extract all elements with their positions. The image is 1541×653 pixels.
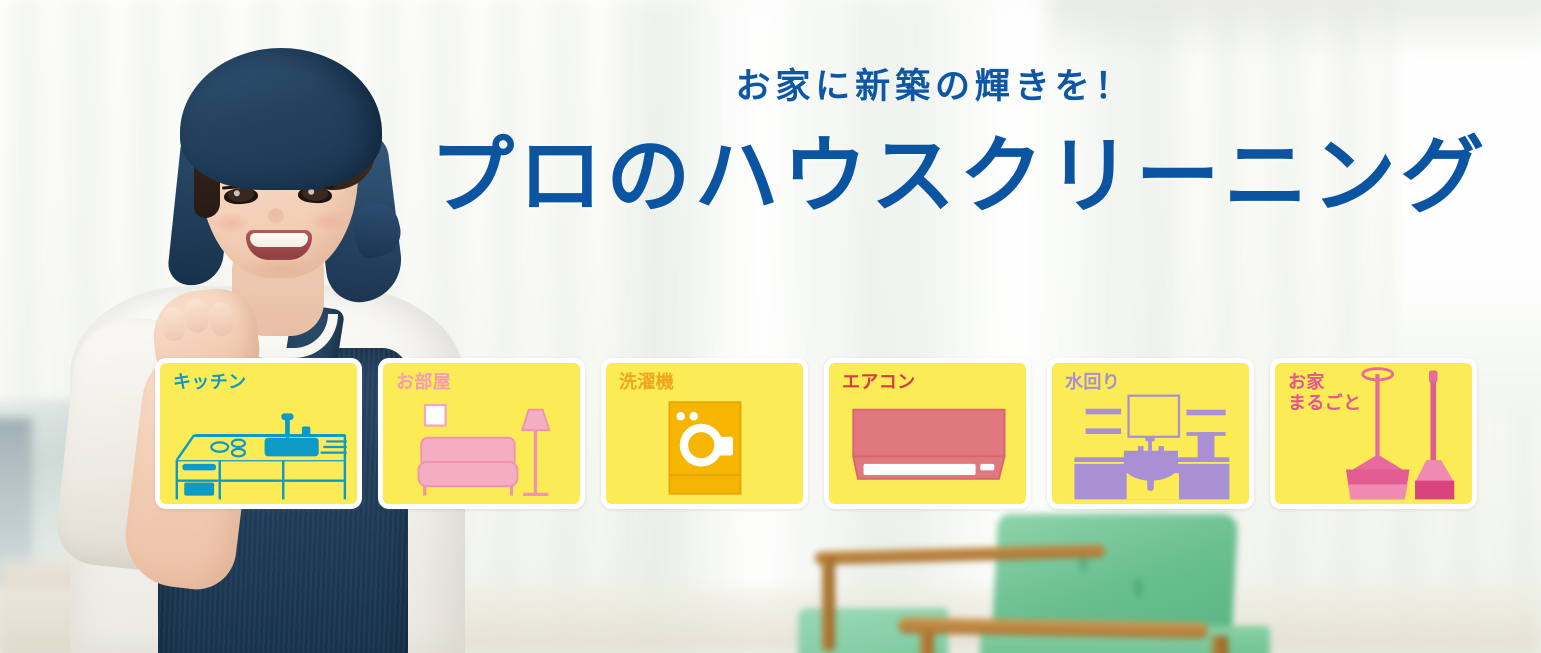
service-card-label: キッチン [173, 372, 246, 393]
service-card-row: キッチン [155, 358, 1477, 509]
service-card-label: 洗濯機 [619, 372, 674, 393]
background-top-shade [1050, 0, 1541, 60]
staff-photo [62, 18, 482, 653]
headline-subtitle: お家に新築の輝きを！ [430, 68, 1440, 107]
background-armchair [780, 508, 1250, 653]
service-card-water-areas[interactable]: 水回り [1047, 358, 1254, 509]
service-card-label: お家 まるごと [1288, 372, 1361, 414]
service-card-whole-house[interactable]: お家 まるごと [1270, 358, 1477, 509]
headline-title: プロのハウスクリーニング [430, 129, 1440, 223]
service-card-air-conditioner[interactable]: エアコン [824, 358, 1031, 509]
headline-block: お家に新築の輝きを！ プロのハウスクリーニング [430, 68, 1440, 223]
service-card-room[interactable]: お部屋 [378, 358, 585, 509]
service-card-label: エアコン [842, 372, 915, 393]
service-card-label: 水回り [1065, 372, 1120, 393]
service-card-label: お部屋 [396, 372, 451, 393]
staff-bandana [180, 48, 382, 190]
hero-banner: お家に新築の輝きを！ プロのハウスクリーニング キッチン [0, 0, 1541, 653]
service-card-washing-machine[interactable]: 洗濯機 [601, 358, 808, 509]
service-card-kitchen[interactable]: キッチン [155, 358, 362, 509]
